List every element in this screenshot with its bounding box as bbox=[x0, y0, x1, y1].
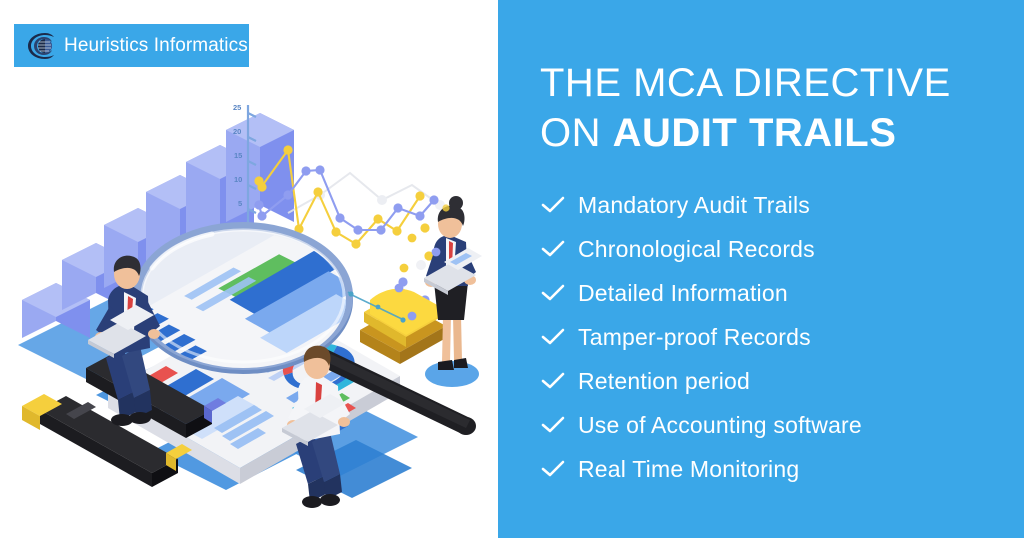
swirl-logo-icon bbox=[25, 30, 57, 62]
list-item: Retention period bbox=[540, 359, 1010, 403]
brand-logo-text: Heuristics Informatics bbox=[64, 35, 248, 57]
list-item: Chronological Records bbox=[540, 227, 1010, 271]
list-item: Use of Accounting software bbox=[540, 403, 1010, 447]
svg-text:25: 25 bbox=[233, 103, 241, 112]
svg-text:20: 20 bbox=[233, 127, 241, 136]
checklist: Mandatory Audit Trails Chronological Rec… bbox=[540, 183, 1010, 491]
list-item-label: Detailed Information bbox=[578, 280, 788, 307]
list-item-label: Retention period bbox=[578, 368, 750, 395]
check-icon bbox=[540, 456, 566, 482]
list-item: Tamper-proof Records bbox=[540, 315, 1010, 359]
list-item-label: Real Time Monitoring bbox=[578, 456, 799, 483]
check-icon bbox=[540, 192, 566, 218]
list-item: Real Time Monitoring bbox=[540, 447, 1010, 491]
title-line-2: ON AUDIT TRAILS bbox=[540, 108, 1010, 158]
svg-text:15: 15 bbox=[234, 151, 242, 160]
title-line-2-emphasis: AUDIT TRAILS bbox=[613, 111, 897, 155]
page-title: THE MCA DIRECTIVE ON AUDIT TRAILS bbox=[540, 58, 1010, 158]
list-item-label: Chronological Records bbox=[578, 236, 815, 263]
brand-logo[interactable]: Heuristics Informatics bbox=[14, 24, 249, 67]
svg-text:10: 10 bbox=[234, 175, 242, 184]
list-item-label: Use of Accounting software bbox=[578, 412, 862, 439]
poster-canvas: 25 20 15 10 5 0 bbox=[0, 0, 1024, 538]
title-line-1: THE MCA DIRECTIVE bbox=[540, 58, 1010, 108]
list-item-label: Tamper-proof Records bbox=[578, 324, 811, 351]
list-item: Detailed Information bbox=[540, 271, 1010, 315]
check-icon bbox=[540, 236, 566, 262]
svg-text:5: 5 bbox=[238, 199, 242, 208]
check-icon bbox=[540, 368, 566, 394]
list-item: Mandatory Audit Trails bbox=[540, 183, 1010, 227]
check-icon bbox=[540, 280, 566, 306]
check-icon bbox=[540, 412, 566, 438]
content-panel: THE MCA DIRECTIVE ON AUDIT TRAILS Mandat… bbox=[498, 0, 1024, 538]
standing-businesswoman-with-laptop bbox=[424, 196, 482, 387]
illustration: 25 20 15 10 5 0 bbox=[0, 0, 498, 538]
yellow-document-stack bbox=[348, 284, 448, 364]
list-item-label: Mandatory Audit Trails bbox=[578, 192, 810, 219]
check-icon bbox=[540, 324, 566, 350]
title-line-2-prefix: ON bbox=[540, 111, 613, 155]
